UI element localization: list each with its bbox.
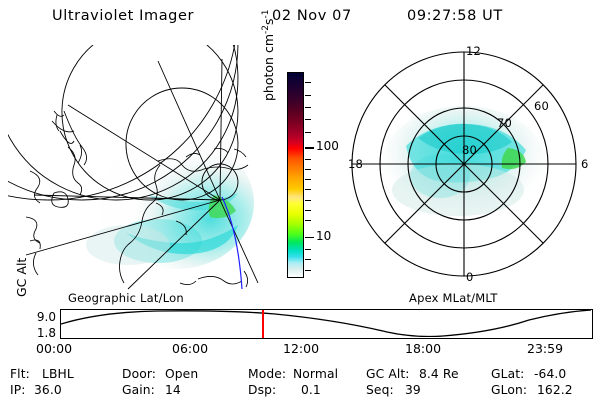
colorbar-title: photon cm-2s-1 — [261, 0, 276, 101]
orbit-y-tick-min: 1.8 — [20, 326, 56, 340]
mlt-label-12: 12 — [466, 44, 481, 58]
latitude-ring-label-60: 60 — [534, 99, 549, 113]
status-door-value: Open — [165, 367, 198, 381]
mlt-label-0: 0 — [466, 270, 474, 284]
polar-spokes — [352, 52, 576, 276]
status-glon-value: 162.2 — [537, 383, 573, 397]
mlt-label-6: 6 — [581, 157, 589, 171]
colorbar-minor-tick-7 — [305, 179, 311, 180]
status-gcalt-value: 8.4 Re — [419, 367, 459, 381]
current-time-marker — [262, 310, 264, 338]
mlt-label-18: 18 — [348, 157, 363, 171]
status-mode-value: Normal — [293, 367, 338, 381]
time-tick-2: 12:00 — [283, 341, 319, 356]
time-tick-1: 06:00 — [172, 341, 208, 356]
colorbar-minor-tick-8 — [305, 189, 311, 190]
colorbar-tick-label-10: 10 — [316, 229, 331, 243]
status-gain-value: 14 — [165, 383, 181, 397]
latitude-ring-label-70: 70 — [497, 116, 512, 130]
polar-panel-label: Apex MLat/MLT — [409, 291, 498, 305]
colorbar-major-tick-100 — [305, 147, 314, 149]
status-gain-key: Gain: — [122, 383, 155, 397]
orbit-y-axis-label: GC Alt — [14, 258, 29, 297]
colorbar-minor-tick-1 — [305, 95, 311, 96]
status-dsp-key: Dsp: — [248, 383, 276, 397]
observation-date: 02 Nov 07 — [272, 8, 352, 24]
colorbar-title-mid: s — [261, 19, 276, 26]
geographic-panel-label: Geographic Lat/Lon — [68, 291, 184, 305]
colorbar-minor-tick-3 — [305, 119, 311, 120]
colorbar-exp-1: -2 — [261, 25, 271, 34]
status-ip-key: IP: — [10, 383, 26, 397]
time-tick-4: 23:59 — [527, 341, 563, 356]
colorbar-minor-tick-14 — [305, 270, 311, 271]
colorbar-minor-tick-11 — [305, 220, 311, 221]
status-flt-key: Flt: — [10, 367, 30, 381]
colorbar-minor-tick-12 — [305, 249, 311, 250]
colorbar-major-tick-10 — [305, 237, 314, 239]
status-glat-key: GLat: — [491, 367, 524, 381]
status-dsp-value: 0.1 — [301, 383, 321, 397]
orbit-altitude-plot[interactable] — [60, 309, 593, 339]
colorbar-minor-tick-10 — [305, 210, 311, 211]
time-tick-3: 18:00 — [405, 341, 441, 356]
aurora-emission-geographic — [86, 137, 254, 269]
colorbar — [287, 72, 304, 278]
polar-dial-panel[interactable] — [348, 42, 594, 290]
status-mode-key: Mode: — [248, 367, 286, 381]
colorbar-exp-2: -1 — [261, 10, 271, 19]
colorbar-minor-tick-2 — [305, 107, 311, 108]
uvi-summary-screen: Ultraviolet Imager 02 Nov 07 09:27:58 UT — [0, 0, 600, 400]
observation-time: 09:27:58 UT — [407, 8, 503, 24]
status-gcalt-key: GC Alt: — [366, 367, 410, 381]
status-seq-key: Seq: — [366, 383, 394, 397]
status-glat-value: -64.0 — [534, 367, 566, 381]
status-ip-value: 36.0 — [34, 383, 62, 397]
colorbar-minor-tick-13 — [305, 259, 311, 260]
colorbar-gradient — [288, 73, 303, 277]
status-glon-key: GLon: — [491, 383, 527, 397]
status-flt-value: LBHL — [42, 367, 74, 381]
altitude-trace — [61, 310, 591, 337]
instrument-title: Ultraviolet Imager — [52, 8, 194, 24]
colorbar-minor-tick-9 — [305, 200, 311, 201]
colorbar-tick-label-100: 100 — [316, 139, 339, 153]
colorbar-minor-tick-4 — [305, 132, 311, 133]
colorbar-minor-tick-5 — [305, 159, 311, 160]
time-tick-0: 00:00 — [36, 341, 72, 356]
geographic-map-panel[interactable] — [8, 45, 260, 290]
status-door-key: Door: — [122, 367, 156, 381]
colorbar-title-text: photon cm — [261, 34, 276, 101]
status-seq-value: 39 — [405, 383, 421, 397]
orbit-y-tick-max: 9.0 — [20, 310, 56, 324]
latitude-ring-label-80: 80 — [462, 143, 477, 157]
colorbar-minor-tick-0 — [305, 82, 311, 83]
colorbar-minor-tick-6 — [305, 169, 311, 170]
